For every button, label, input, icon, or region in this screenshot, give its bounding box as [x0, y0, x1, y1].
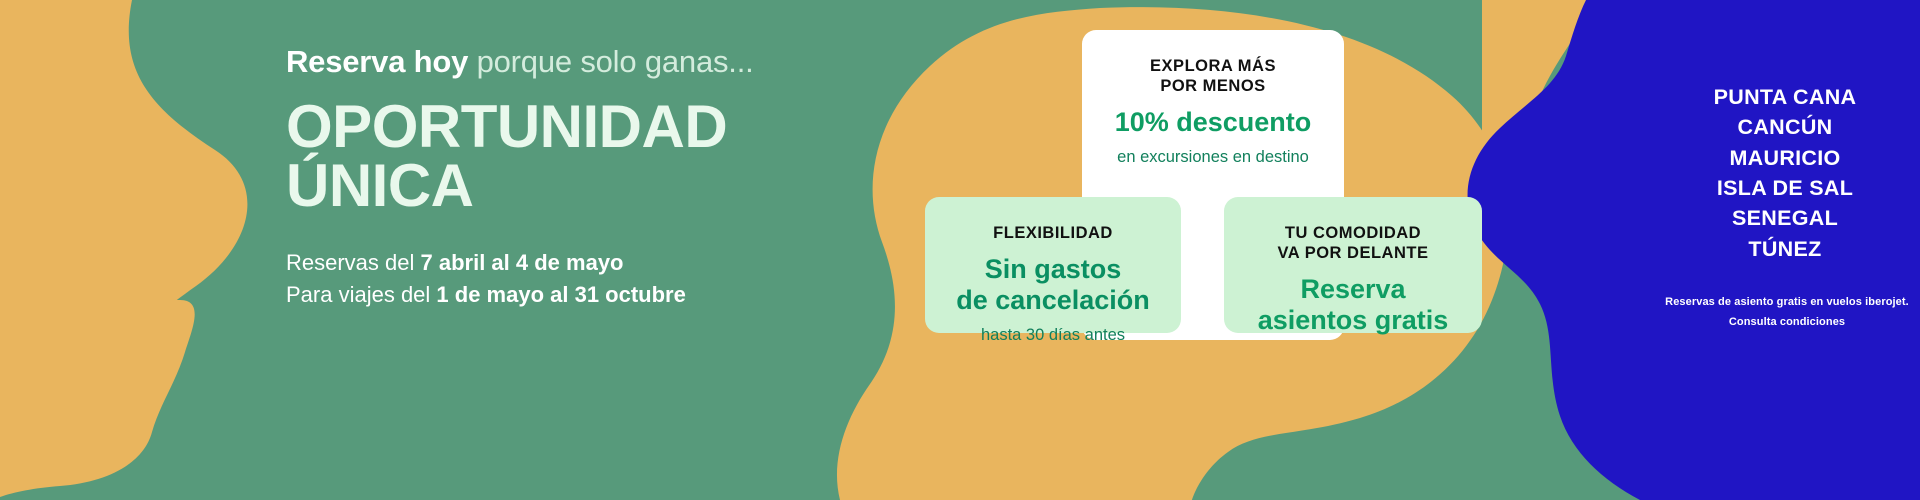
destination-list: PUNTA CANA CANCÚN MAURICIO ISLA DE SAL S…: [1640, 82, 1920, 264]
card-eyebrow-explora: EXPLORA MÁS POR MENOS: [1096, 56, 1330, 96]
card-main-flexibilidad: Sin gastos de cancelación: [939, 254, 1167, 316]
legal-line-2: Consulta condiciones: [1622, 312, 1920, 332]
card-eyebrow-comodidad: TU COMODIDAD VA POR DELANTE: [1238, 223, 1468, 263]
card-main-flexibilidad-line1: Sin gastos: [939, 254, 1167, 285]
destination-item[interactable]: TÚNEZ: [1640, 234, 1920, 264]
destination-item[interactable]: CANCÚN: [1640, 112, 1920, 142]
card-eyebrow-explora-line1: EXPLORA MÁS: [1096, 56, 1330, 76]
destination-item[interactable]: ISLA DE SAL: [1640, 173, 1920, 203]
benefit-card-comodidad[interactable]: TU COMODIDAD VA POR DELANTE Reserva asie…: [1224, 197, 1482, 333]
card-sub-explora: en excursiones en destino: [1096, 148, 1330, 168]
card-eyebrow-comodidad-line2: VA POR DELANTE: [1238, 243, 1468, 263]
card-main-explora: 10% descuento: [1096, 107, 1330, 138]
destination-item[interactable]: PUNTA CANA: [1640, 82, 1920, 112]
card-main-comodidad-line1: Reserva: [1238, 274, 1468, 305]
card-sub-flexibilidad: hasta 30 días antes: [939, 326, 1167, 346]
card-main-flexibilidad-line2: de cancelación: [939, 285, 1167, 316]
card-eyebrow-comodidad-line1: TU COMODIDAD: [1238, 223, 1468, 243]
benefit-card-flexibilidad[interactable]: FLEXIBILIDAD Sin gastos de cancelación h…: [925, 197, 1181, 333]
card-main-comodidad: Reserva asientos gratis: [1238, 274, 1468, 336]
card-eyebrow-explora-line2: POR MENOS: [1096, 76, 1330, 96]
card-main-comodidad-line2: asientos gratis: [1238, 305, 1468, 336]
card-eyebrow-flexibilidad: FLEXIBILIDAD: [939, 223, 1167, 243]
legal-line-1: Reservas de asiento gratis en vuelos ibe…: [1622, 292, 1920, 312]
benefit-cards-group: EXPLORA MÁS POR MENOS 10% descuento en e…: [0, 0, 1920, 500]
destination-item[interactable]: SENEGAL: [1640, 203, 1920, 233]
destination-item[interactable]: MAURICIO: [1640, 143, 1920, 173]
legal-disclaimer: Reservas de asiento gratis en vuelos ibe…: [1622, 292, 1920, 332]
